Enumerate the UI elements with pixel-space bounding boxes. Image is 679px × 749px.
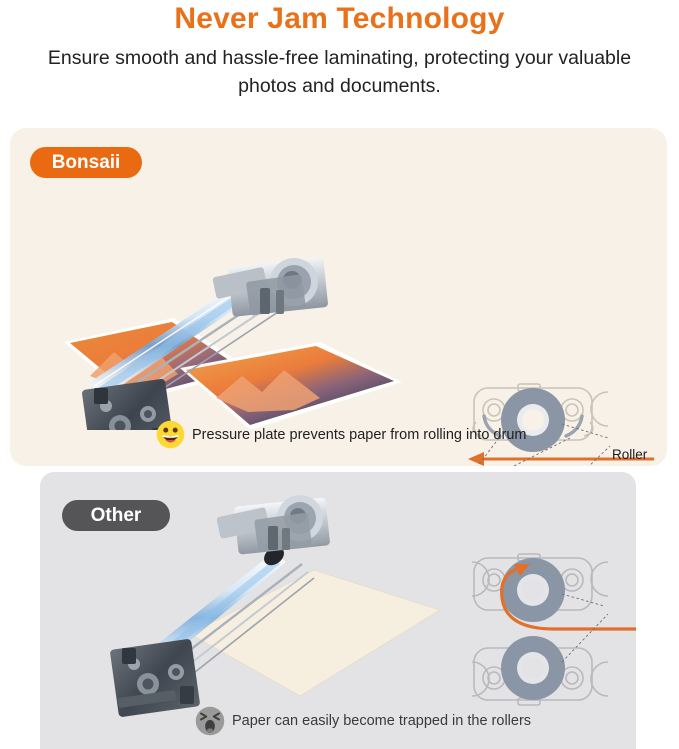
caption-other-text: Paper can easily become trapped in the r… [232,712,531,730]
roller-diagram-bad [458,550,636,710]
page-title: Never Jam Technology [0,0,679,36]
caption-other: Paper can easily become trapped in the r… [195,706,531,736]
roller-lower-icon [501,636,565,700]
diagram-label-roller-good: Roller [612,447,647,463]
caption-bonsaii: Pressure plate prevents paper from rolli… [156,420,526,449]
happy-face-icon [156,420,185,449]
drum-head-icon [216,495,330,555]
roller-upper-icon [501,558,565,622]
page-subtitle: Ensure smooth and hassle-free laminating… [0,36,679,100]
brand-badge-bonsaii: Bonsaii [30,147,142,178]
header: Never Jam Technology Ensure smooth and h… [0,0,679,100]
panel-bonsaii: Roller Paper inlet Pressure Plate Bonsai… [10,128,667,466]
gear-housing-icon [110,639,201,718]
brand-badge-other: Other [62,500,170,531]
caption-bonsaii-text: Pressure plate prevents paper from rolli… [192,426,526,444]
distressed-face-icon [195,706,225,736]
